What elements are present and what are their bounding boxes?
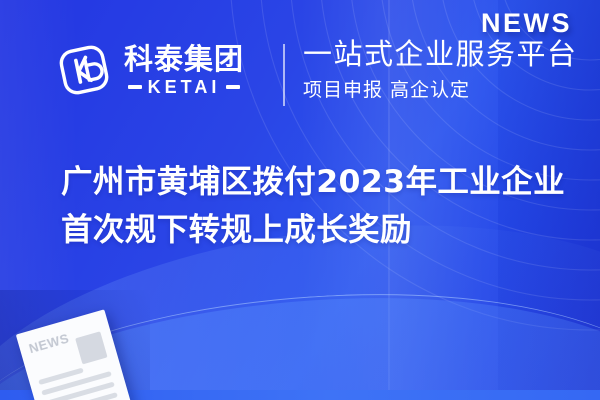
brand-name-en: KETAI (148, 78, 221, 96)
tagline-secondary: 项目申报 高企认定 (303, 75, 578, 102)
brand-name-cn: 科泰集团 (124, 45, 244, 74)
brand-name-en-row: KETAI (128, 78, 241, 96)
brand-wordmark: 科泰集团 KETAI (124, 45, 244, 96)
news-kicker-label: NEWS (481, 8, 572, 39)
headline-title: 广州市黄埔区拨付2023年工业企业首次规下转规上成长奖励 (61, 158, 571, 254)
brand-logo[interactable]: 科泰集团 KETAI (54, 40, 244, 100)
ketai-monogram-icon (54, 40, 114, 100)
news-banner: NEWS 科泰集团 KETAI 一站式企业服务 (0, 0, 600, 400)
tagline-block: 一站式企业服务平台 项目申报 高企认定 (303, 38, 578, 102)
dash-right-icon (226, 85, 240, 89)
dash-left-icon (128, 85, 142, 89)
header-divider (283, 44, 285, 106)
tagline-primary: 一站式企业服务平台 (303, 38, 578, 70)
banner-header: NEWS 科泰集团 KETAI 一站式企业服务 (0, 0, 600, 140)
